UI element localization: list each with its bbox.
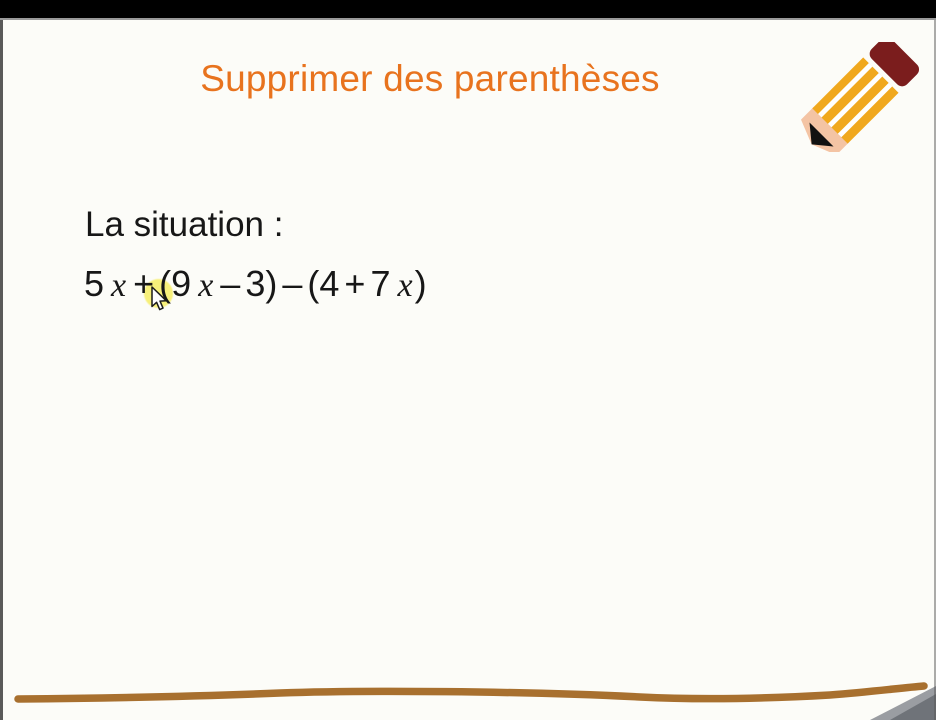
eq-coef-7: 7 <box>370 263 390 304</box>
slide-root: Supprimer des parenthèses <box>0 0 936 720</box>
eq-num-4: 4 <box>319 263 339 304</box>
eq-num-3: 3 <box>245 263 265 304</box>
eq-open-paren-2: ( <box>307 263 319 304</box>
eq-op-plus-1[interactable]: + <box>133 263 154 304</box>
eq-var-x-3: x <box>395 267 414 304</box>
letterbox-top-bar <box>0 0 936 18</box>
eq-var-x-2: x <box>196 267 215 304</box>
slide-left-edge <box>0 20 3 720</box>
page-title: Supprimer des parenthèses <box>0 58 860 100</box>
eq-open-paren-1: ( <box>159 263 171 304</box>
gray-corner-sliver <box>850 680 936 720</box>
prompt-label: La situation : <box>85 205 283 245</box>
eq-coef-5: 5 <box>84 263 104 304</box>
eq-op-plus-2: + <box>344 263 365 304</box>
eq-op-minus-2: – <box>282 263 302 304</box>
eq-close-paren-2: ) <box>415 263 427 304</box>
pencil-icon <box>798 42 920 152</box>
eq-var-x-1: x <box>109 267 128 304</box>
eq-op-minus-1: – <box>220 263 240 304</box>
eq-close-paren-1: ) <box>265 263 277 304</box>
eq-coef-9: 9 <box>171 263 191 304</box>
slide-canvas: Supprimer des parenthèses <box>0 20 936 720</box>
hand-drawn-underline <box>0 670 936 720</box>
equation-line: 5x+(9x–3)–(4+7x) <box>84 263 427 305</box>
